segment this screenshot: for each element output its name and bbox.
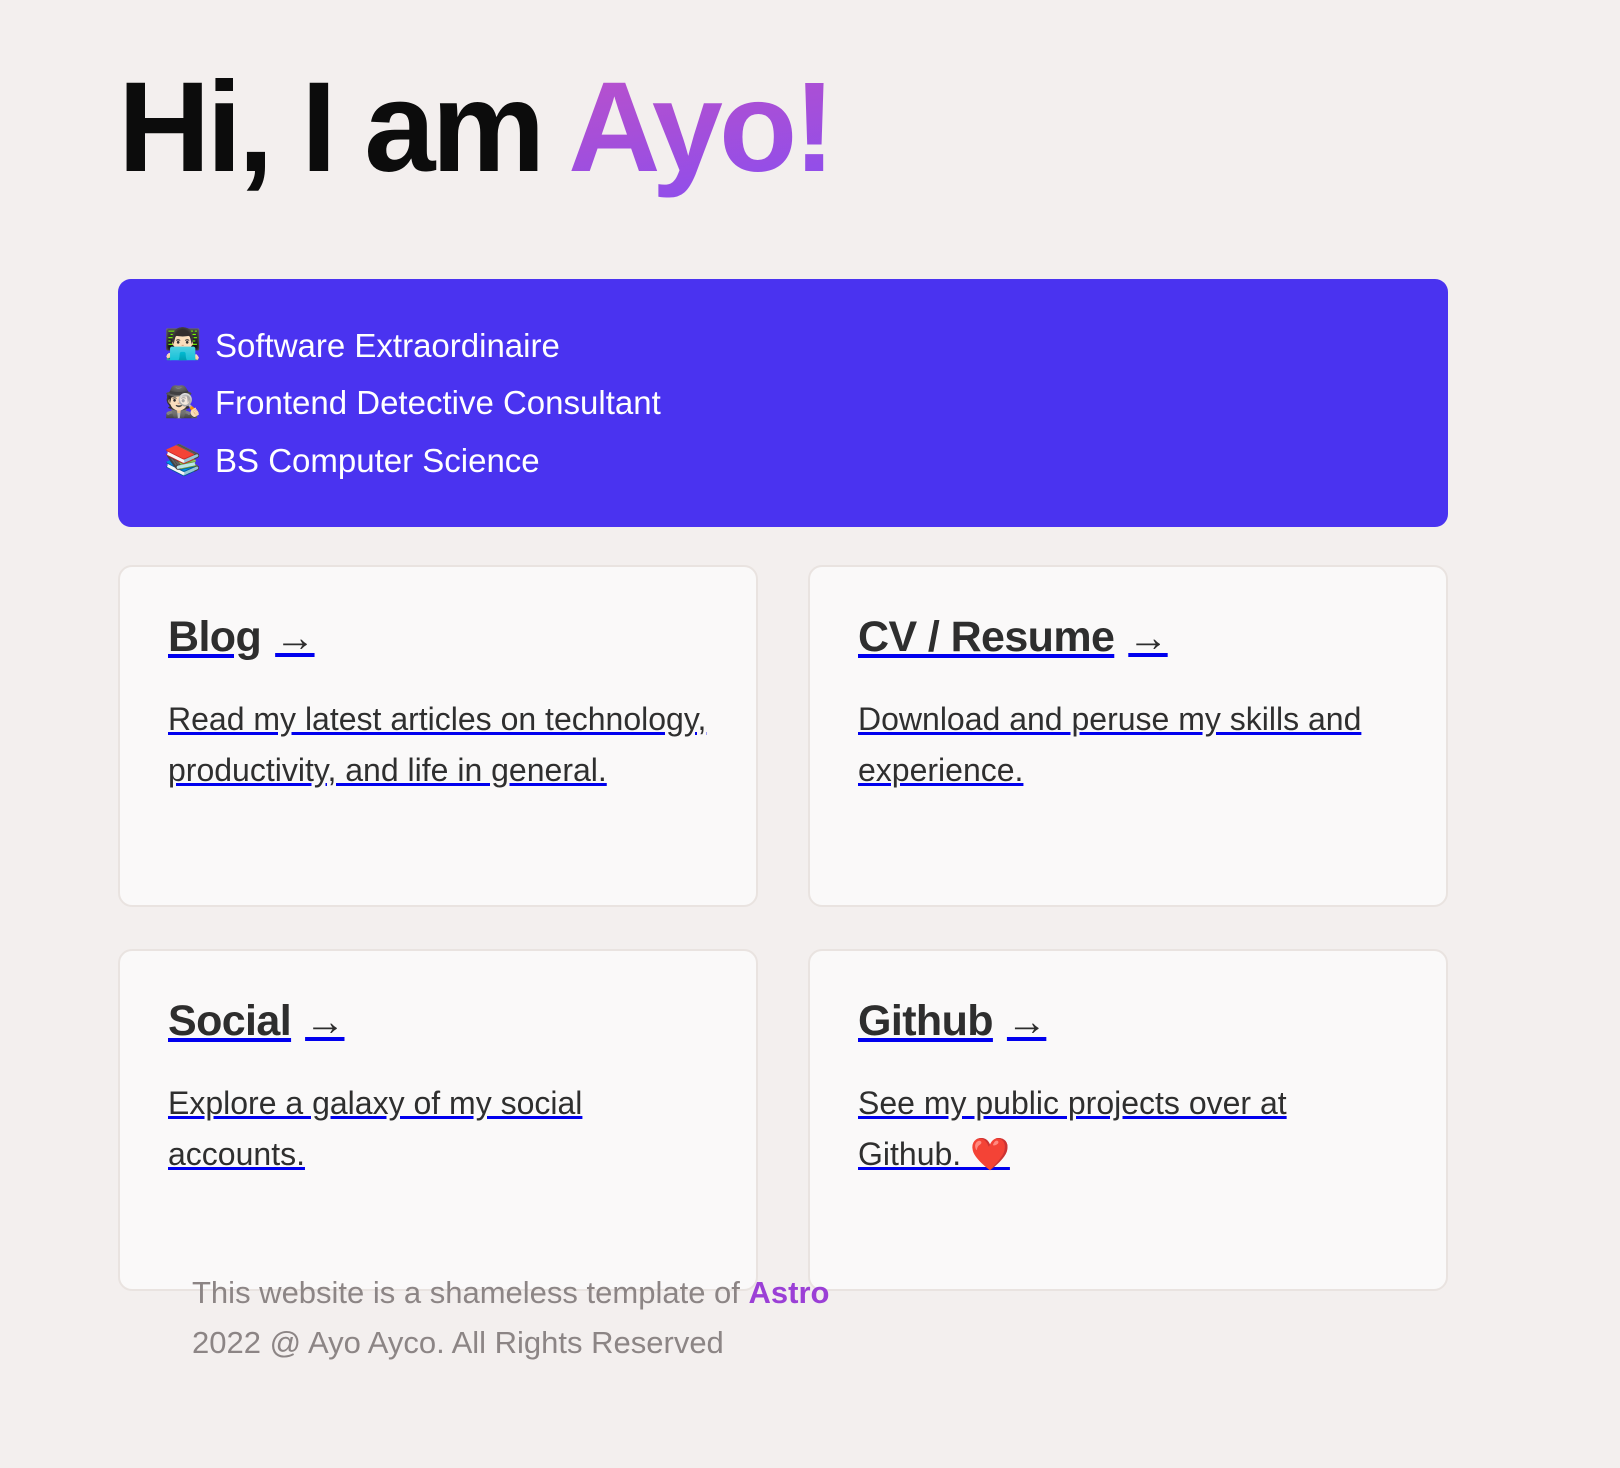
card-cv-resume-description: Download and peruse my skills and experi… (858, 694, 1398, 795)
card-social[interactable]: Social → Explore a galaxy of my social a… (118, 949, 758, 1291)
footer-copyright: 2022 @ Ayo Ayco. All Rights Reserved (192, 1318, 1392, 1368)
astro-link[interactable]: Astro (749, 1275, 830, 1310)
intro-panel-list: 👨🏻‍💻 Software Extraordinaire 🕵🏻 Frontend… (164, 324, 1402, 483)
arrow-right-icon: → (1007, 1002, 1046, 1042)
hero-name: Ayo! (568, 56, 832, 199)
card-social-title: Social → (168, 997, 708, 1046)
hero-greeting: Hi, I am (118, 56, 568, 199)
man-technologist-emoji: 👨🏻‍💻 (164, 330, 202, 360)
page-footer: This website is a shameless template of … (192, 1268, 1392, 1368)
card-cv-resume[interactable]: CV / Resume → Download and peruse my ski… (808, 565, 1448, 907)
card-github-description: See my public projects over at Github. ❤… (858, 1078, 1398, 1179)
arrow-right-icon: → (275, 618, 314, 658)
arrow-right-icon: → (305, 1002, 344, 1042)
intro-item-label: Software Extraordinaire (215, 324, 560, 368)
books-emoji: 📚 (164, 446, 202, 476)
card-github-title-text: Github (858, 997, 993, 1046)
arrow-right-icon: → (1128, 618, 1167, 658)
card-cv-resume-title-text: CV / Resume (858, 613, 1114, 662)
card-blog[interactable]: Blog → Read my latest articles on techno… (118, 565, 758, 907)
intro-item-label: Frontend Detective Consultant (215, 381, 661, 425)
footer-credit: This website is a shameless template of … (192, 1268, 1392, 1318)
card-social-description: Explore a galaxy of my social accounts. (168, 1078, 708, 1179)
detective-emoji: 🕵🏻 (164, 388, 202, 418)
page-root: Hi, I am Ayo! 👨🏻‍💻 Software Extraordinai… (0, 0, 1620, 1468)
intro-item-degree: 📚 BS Computer Science (164, 439, 1402, 483)
intro-panel: 👨🏻‍💻 Software Extraordinaire 🕵🏻 Frontend… (118, 279, 1448, 527)
intro-item-software: 👨🏻‍💻 Software Extraordinaire (164, 324, 1402, 368)
card-github-title: Github → (858, 997, 1398, 1046)
page-title: Hi, I am Ayo! (118, 52, 1518, 203)
intro-item-label: BS Computer Science (215, 439, 540, 483)
card-blog-title-text: Blog (168, 613, 261, 662)
card-blog-title: Blog → (168, 613, 708, 662)
card-cv-resume-title: CV / Resume → (858, 613, 1398, 662)
card-social-title-text: Social (168, 997, 291, 1046)
footer-credit-text: This website is a shameless template of (192, 1275, 749, 1310)
link-card-grid: Blog → Read my latest articles on techno… (118, 565, 1448, 1291)
hero-section: Hi, I am Ayo! (118, 52, 1518, 203)
intro-item-frontend: 🕵🏻 Frontend Detective Consultant (164, 381, 1402, 425)
card-blog-description: Read my latest articles on technology, p… (168, 694, 708, 795)
card-github[interactable]: Github → See my public projects over at … (808, 949, 1448, 1291)
